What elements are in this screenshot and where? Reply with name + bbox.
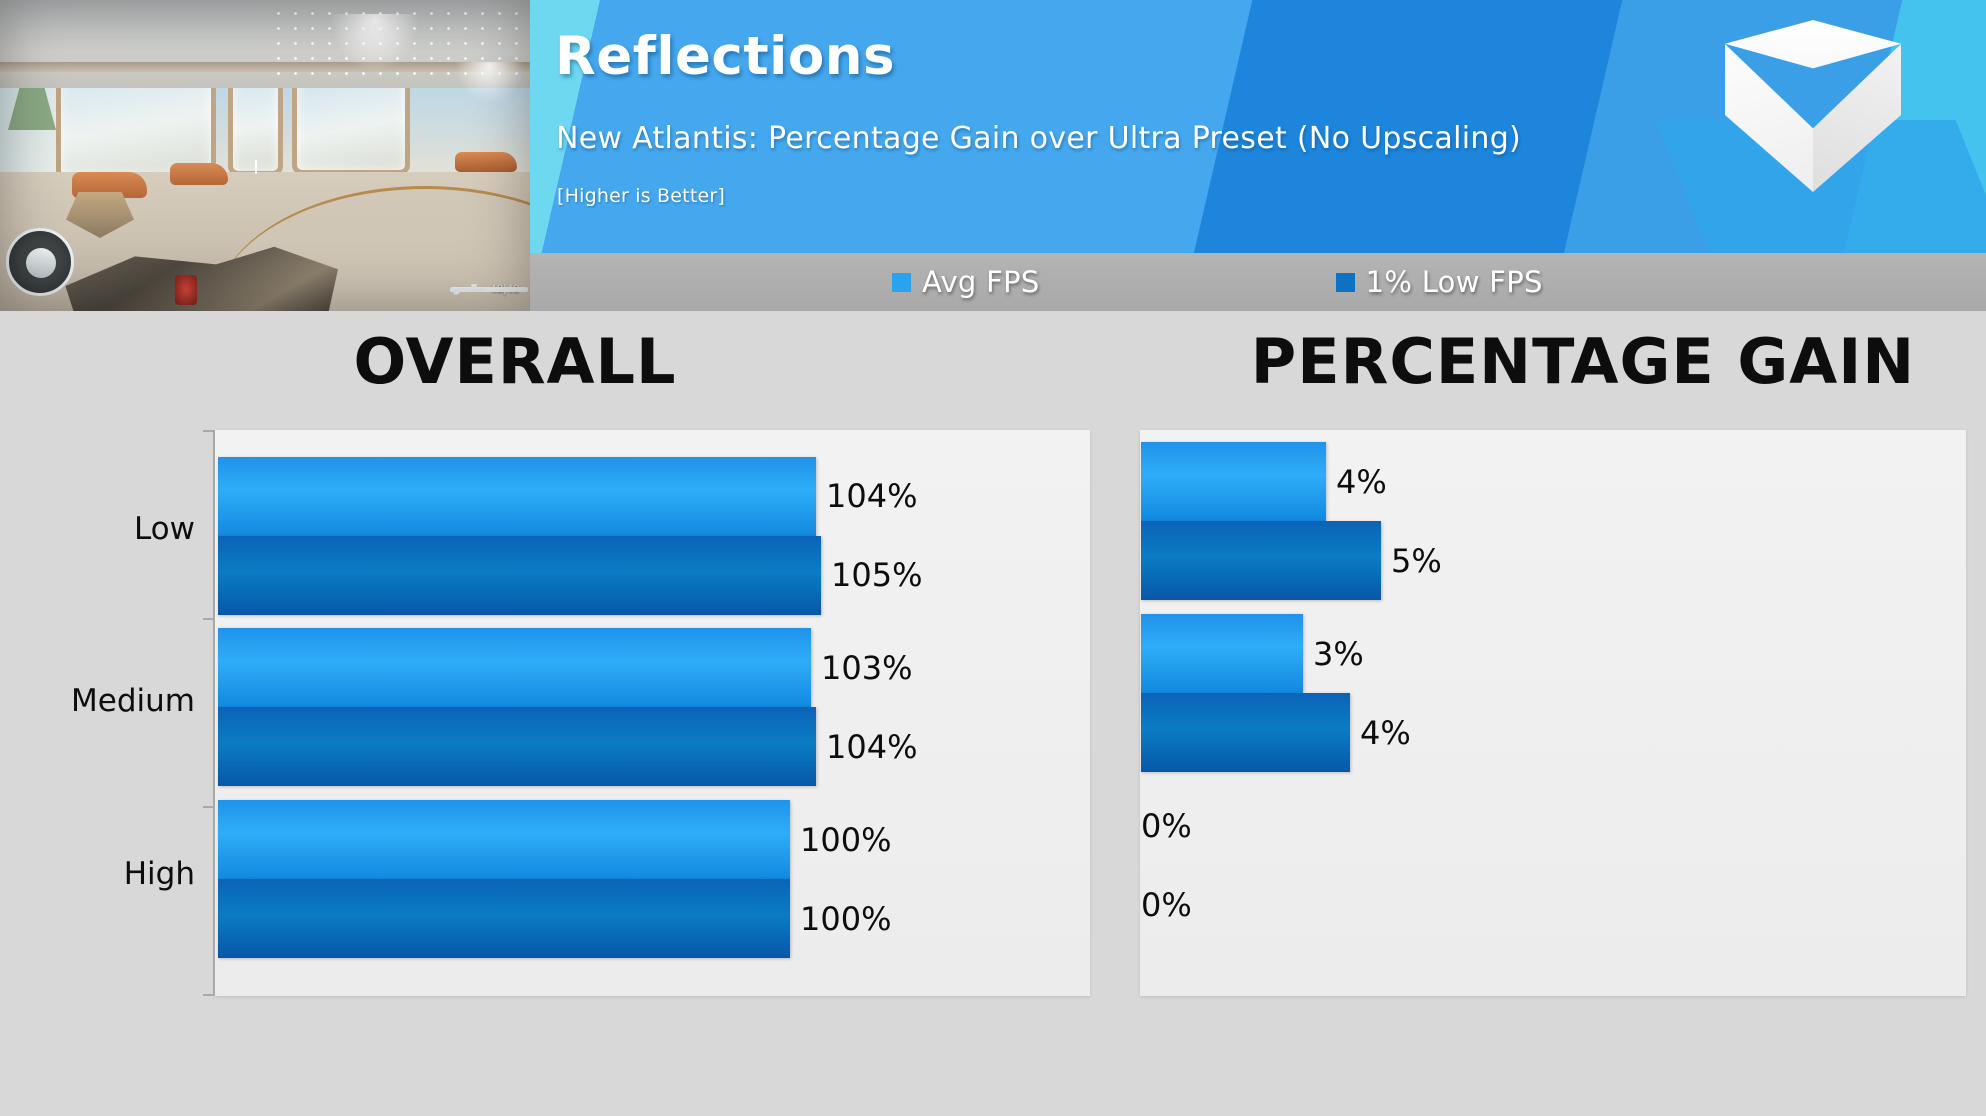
category-label-low: Low (0, 511, 195, 547)
bar-value-low-low: 105% (831, 556, 922, 594)
category-label-medium: Medium (0, 683, 195, 719)
chart-title: PERCENTAGE GAIN (1150, 325, 1986, 398)
bar-value-low-medium: 104% (826, 728, 917, 766)
bar-low-high (218, 879, 790, 958)
game-capture-thumbnail: 48|49 (0, 0, 530, 311)
bar-value-avg-medium: 103% (821, 649, 912, 687)
bar-value-low-medium: 4% (1360, 714, 1411, 752)
axis-tick (203, 806, 215, 808)
cube-face-left (1725, 44, 1813, 192)
header-note: [Higher is Better] (557, 185, 725, 207)
bar-low-low (218, 536, 821, 615)
header-subtitle: New Atlantis: Percentage Gain over Ultra… (556, 121, 1521, 156)
legend-label: Avg FPS (922, 265, 1040, 299)
legend-item-avg-fps: Avg FPS (892, 265, 1040, 299)
bar-value-low-high: 100% (800, 900, 891, 938)
bar-value-avg-high: 100% (800, 821, 891, 859)
bar-value-avg-medium: 3% (1313, 635, 1364, 673)
bar-low-low (1141, 521, 1381, 600)
bar-low-medium (1141, 693, 1350, 772)
category-axis (213, 430, 215, 996)
header-title: Reflections (555, 26, 895, 87)
bar-value-avg-high: 0% (1141, 807, 1192, 845)
axis-tick (203, 618, 215, 620)
bar-value-low-high: 0% (1141, 886, 1192, 924)
bar-low-medium (218, 707, 816, 786)
bar-avg-high (218, 800, 790, 879)
category-label-high: High (0, 856, 195, 892)
game-vignette (0, 0, 530, 311)
cube-icon (1725, 20, 1901, 192)
bar-value-avg-low: 4% (1336, 463, 1387, 501)
legend-item-1pct-low-fps: 1% Low FPS (1336, 265, 1543, 299)
chart-title: OVERALL (0, 325, 1075, 398)
bar-avg-low (1141, 442, 1326, 521)
bar-value-low-low: 5% (1391, 542, 1442, 580)
bar-avg-medium (1141, 614, 1303, 693)
legend-label: 1% Low FPS (1366, 265, 1543, 299)
bar-value-avg-low: 104% (826, 477, 917, 515)
header-banner: Reflections New Atlantis: Percentage Gai… (530, 0, 1986, 253)
chart-legend: Avg FPS 1% Low FPS (530, 253, 1986, 311)
legend-swatch-icon (1336, 273, 1355, 292)
bar-avg-low (218, 457, 816, 536)
chart-overall: OVERALL Low Medium High 104% 105% 103% 1… (0, 311, 1120, 1116)
cube-face-right (1813, 44, 1901, 192)
bar-avg-medium (218, 628, 811, 707)
charts-area: OVERALL Low Medium High 104% 105% 103% 1… (0, 311, 1986, 1116)
axis-tick (203, 430, 215, 432)
axis-tick (203, 994, 215, 996)
banner: 48|49 Reflections New Atlantis: Percenta… (0, 0, 1986, 311)
legend-swatch-icon (892, 273, 911, 292)
chart-percentage-gain: PERCENTAGE GAIN 4% 5% 3% 4% 0% 0% (1120, 311, 1986, 1116)
slide-root: 48|49 Reflections New Atlantis: Percenta… (0, 0, 1986, 1116)
